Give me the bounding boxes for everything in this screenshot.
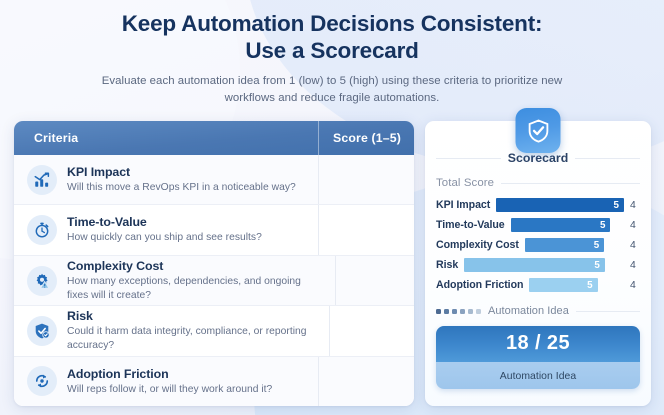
dot <box>444 309 449 314</box>
table-cell-criteria: Time-to-Value How quickly can you ship a… <box>14 205 318 254</box>
bar-fill: 5 <box>525 238 604 252</box>
bar-value: 5 <box>594 240 599 251</box>
bar-chart-growth-icon <box>27 165 57 195</box>
criteria-text-group: Complexity Cost How many exceptions, dep… <box>67 259 325 302</box>
dot <box>468 309 473 314</box>
criteria-description: Will reps follow it, or will they work a… <box>67 383 272 397</box>
bar-outer-value: 4 <box>630 260 640 271</box>
bar-outer-value: 4 <box>630 200 640 211</box>
total-score-value-area: 18 / 25 <box>436 326 640 362</box>
shield-check-icon <box>516 108 561 153</box>
divider-left <box>436 158 501 159</box>
scorecard-panel: Scorecard Total Score KPI Impact 5 4 Tim… <box>425 121 651 406</box>
table-row[interactable]: KPI Impact Will this move a RevOps KPI i… <box>14 155 414 205</box>
bar-fill: 5 <box>464 258 605 272</box>
criteria-title: Risk <box>67 309 319 324</box>
stopwatch-icon <box>27 215 57 245</box>
automation-idea-divider-row: Automation Idea <box>436 305 640 317</box>
total-score-caption-area: Automation Idea <box>436 362 640 389</box>
dot <box>436 309 441 314</box>
criteria-title: Time-to-Value <box>67 215 262 230</box>
bar-track: 5 <box>464 258 624 272</box>
divider-right <box>575 158 640 159</box>
bar-value: 5 <box>594 260 599 271</box>
bar-outer-value: 4 <box>630 240 640 251</box>
bar-value: 5 <box>614 200 619 211</box>
criteria-title: Complexity Cost <box>67 259 325 274</box>
scorecard-bars: KPI Impact 5 4 Time-to-Value 5 4 C <box>436 198 640 292</box>
bar-value: 5 <box>587 280 592 291</box>
bar-track: 5 <box>525 238 624 252</box>
bar-fill: 5 <box>511 218 611 232</box>
table-body: KPI Impact Will this move a RevOps KPI i… <box>14 155 414 406</box>
score-cell[interactable] <box>318 205 414 254</box>
bar-label: Risk <box>436 259 458 271</box>
scorecard-bar-row: Adoption Friction 5 4 <box>436 278 640 292</box>
criteria-description: Could it harm data integrity, compliance… <box>67 325 319 352</box>
shield-check-icon <box>27 316 57 346</box>
table-cell-criteria: Complexity Cost How many exceptions, dep… <box>14 256 335 305</box>
refresh-cycle-icon <box>27 366 57 396</box>
score-cell[interactable] <box>329 306 414 355</box>
dot <box>476 309 481 314</box>
page-subtitle: Evaluate each automation idea from 1 (lo… <box>0 73 664 106</box>
criteria-description: Will this move a RevOps KPI in a noticea… <box>67 181 296 195</box>
criteria-text-group: Adoption Friction Will reps follow it, o… <box>67 367 272 397</box>
table-row[interactable]: Time-to-Value How quickly can you ship a… <box>14 205 414 255</box>
criteria-description: How many exceptions, dependencies, and o… <box>67 275 325 302</box>
bar-fill: 5 <box>496 198 624 212</box>
criteria-text-group: Risk Could it harm data integrity, compl… <box>67 309 319 352</box>
total-score-box: 18 / 25 Automation Idea <box>436 326 640 389</box>
table-header-row: Criteria Score (1–5) <box>14 121 414 155</box>
total-score-caption: Automation Idea <box>500 371 576 382</box>
scorecard-bar-row: Complexity Cost 5 4 <box>436 238 640 252</box>
table-cell-criteria: Adoption Friction Will reps follow it, o… <box>14 357 318 406</box>
bar-outer-value: 4 <box>630 220 640 231</box>
bar-track: 5 <box>496 198 624 212</box>
score-cell[interactable] <box>318 155 414 204</box>
criteria-text-group: Time-to-Value How quickly can you ship a… <box>67 215 262 245</box>
divider-right <box>576 311 640 312</box>
table-row[interactable]: Complexity Cost How many exceptions, dep… <box>14 256 414 306</box>
table-row[interactable]: Adoption Friction Will reps follow it, o… <box>14 357 414 406</box>
table-row[interactable]: Risk Could it harm data integrity, compl… <box>14 306 414 356</box>
criteria-table-card: Criteria Score (1–5) <box>14 121 414 406</box>
total-score-label: Total Score <box>436 177 494 189</box>
column-header-score: Score (1–5) <box>318 121 414 155</box>
bar-label: Adoption Friction <box>436 279 523 291</box>
bar-outer-value: 4 <box>630 280 640 291</box>
criteria-text-group: KPI Impact Will this move a RevOps KPI i… <box>67 165 296 195</box>
bar-label: Complexity Cost <box>436 239 519 251</box>
criteria-title: KPI Impact <box>67 165 296 180</box>
page-header: Keep Automation Decisions Consistent: Us… <box>0 10 664 106</box>
bar-label: Time-to-Value <box>436 219 505 231</box>
bar-fill: 5 <box>529 278 597 292</box>
bar-value: 5 <box>600 220 605 231</box>
scorecard-title: Scorecard <box>508 151 569 165</box>
criteria-description: How quickly can you ship and see results… <box>67 231 262 245</box>
scorecard-bar-row: Risk 5 4 <box>436 258 640 272</box>
bar-track: 5 <box>529 278 624 292</box>
score-cell[interactable] <box>335 256 414 305</box>
criteria-title: Adoption Friction <box>67 367 272 382</box>
scorecard-title-row: Scorecard <box>436 151 640 165</box>
progress-dots <box>436 309 481 314</box>
column-header-criteria: Criteria <box>14 121 318 155</box>
automation-idea-label: Automation Idea <box>488 305 569 317</box>
divider-right <box>501 183 640 184</box>
page-title-line-2: Use a Scorecard <box>0 37 664 64</box>
page-title-line-1: Keep Automation Decisions Consistent: <box>0 10 664 37</box>
scorecard-bar-row: KPI Impact 5 4 <box>436 198 640 212</box>
bar-track: 5 <box>511 218 624 232</box>
table-cell-criteria: KPI Impact Will this move a RevOps KPI i… <box>14 155 318 204</box>
total-score-value: 18 / 25 <box>506 332 570 354</box>
bar-label: KPI Impact <box>436 199 490 211</box>
dot <box>452 309 457 314</box>
scorecard-bar-row: Time-to-Value 5 4 <box>436 218 640 232</box>
dot <box>460 309 465 314</box>
score-cell[interactable] <box>318 357 414 406</box>
total-score-row: Total Score <box>436 177 640 189</box>
gear-warning-icon <box>27 266 57 296</box>
main-content: Criteria Score (1–5) <box>14 121 651 406</box>
table-cell-criteria: Risk Could it harm data integrity, compl… <box>14 306 329 355</box>
